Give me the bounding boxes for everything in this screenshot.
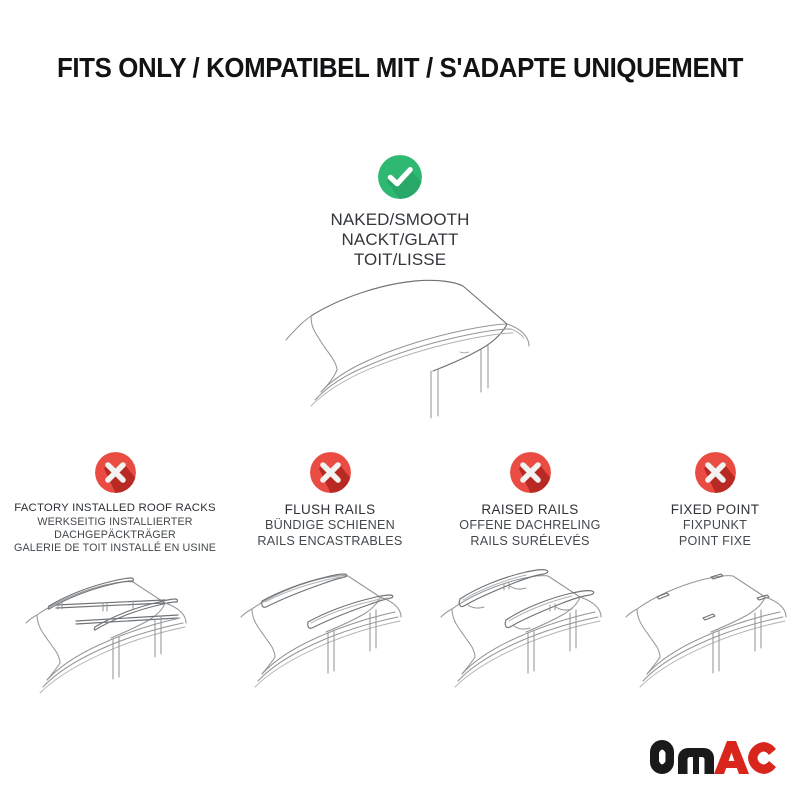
- hero-label-line-3: TOIT/LISSE: [330, 250, 469, 270]
- option-label-line-1: FLUSH RAILS: [257, 502, 402, 518]
- option-labels: RAISED RAILS OFFENE DACHRELING RAILS SUR…: [459, 502, 600, 549]
- option-flush-rails: FLUSH RAILS BÜNDIGE SCHIENEN RAILS ENCAS…: [230, 452, 430, 688]
- option-label-line-3: RAILS SURÉLEVÉS: [459, 534, 600, 549]
- omac-logo-mark: [648, 738, 778, 778]
- fixed-point-illustration: [615, 553, 800, 688]
- option-label-line-1: FACTORY INSTALLED ROOF RACKS: [14, 502, 216, 516]
- omac-logo: [648, 738, 778, 778]
- factory-roof-rack-illustration: [15, 559, 215, 694]
- option-label-line-4: GALERIE DE TOIT INSTALLÉ EN USINE: [14, 542, 216, 555]
- cross-circle-icon: [695, 452, 736, 493]
- option-label-line-2: BÜNDIGE SCHIENEN: [257, 518, 402, 533]
- hero-labels: NAKED/SMOOTH NACKT/GLATT TOIT/LISSE: [330, 210, 469, 271]
- option-label-line-3: RAILS ENCASTRABLES: [257, 534, 402, 549]
- option-label-line-2: OFFENE DACHRELING: [459, 518, 600, 533]
- option-labels: FACTORY INSTALLED ROOF RACKS WERKSEITIG …: [14, 502, 216, 555]
- cross-circle-icon: [310, 452, 351, 493]
- option-raised-rails: RAISED RAILS OFFENE DACHRELING RAILS SUR…: [430, 452, 630, 688]
- option-fixed-point: FIXED POINT FIXPUNKT POINT FIXE: [630, 452, 800, 688]
- raised-rails-illustration: [430, 553, 630, 688]
- fitment-compatibility-infographic: FITS ONLY / KOMPATIBEL MIT / S'ADAPTE UN…: [0, 0, 800, 800]
- option-labels: FLUSH RAILS BÜNDIGE SCHIENEN RAILS ENCAS…: [257, 502, 402, 549]
- hero-label-line-2: NACKT/GLATT: [330, 230, 469, 250]
- option-labels: FIXED POINT FIXPUNKT POINT FIXE: [671, 502, 760, 549]
- option-factory-installed-roof-racks: FACTORY INSTALLED ROOF RACKS WERKSEITIG …: [0, 452, 230, 694]
- option-label-line-2: FIXPUNKT: [671, 518, 760, 533]
- page-title: FITS ONLY / KOMPATIBEL MIT / S'ADAPTE UN…: [24, 52, 776, 84]
- option-label-line-1: RAISED RAILS: [459, 502, 600, 518]
- option-label-line-1: FIXED POINT: [671, 502, 760, 518]
- cross-circle-icon: [510, 452, 551, 493]
- check-circle-icon: [378, 155, 422, 199]
- option-label-line-2: WERKSEITIG INSTALLIERTER: [14, 516, 216, 529]
- hero-compatible-group: NAKED/SMOOTH NACKT/GLATT TOIT/LISSE: [0, 155, 800, 271]
- flush-rails-illustration: [230, 553, 430, 688]
- option-label-line-3: DACHGEPÄCKTRÄGER: [14, 529, 216, 542]
- hero-label-line-1: NAKED/SMOOTH: [330, 210, 469, 230]
- incompatible-options-row: FACTORY INSTALLED ROOF RACKS WERKSEITIG …: [0, 452, 800, 694]
- option-label-line-3: POINT FIXE: [671, 534, 760, 549]
- naked-smooth-roof-illustration: [255, 272, 555, 432]
- cross-circle-icon: [95, 452, 136, 493]
